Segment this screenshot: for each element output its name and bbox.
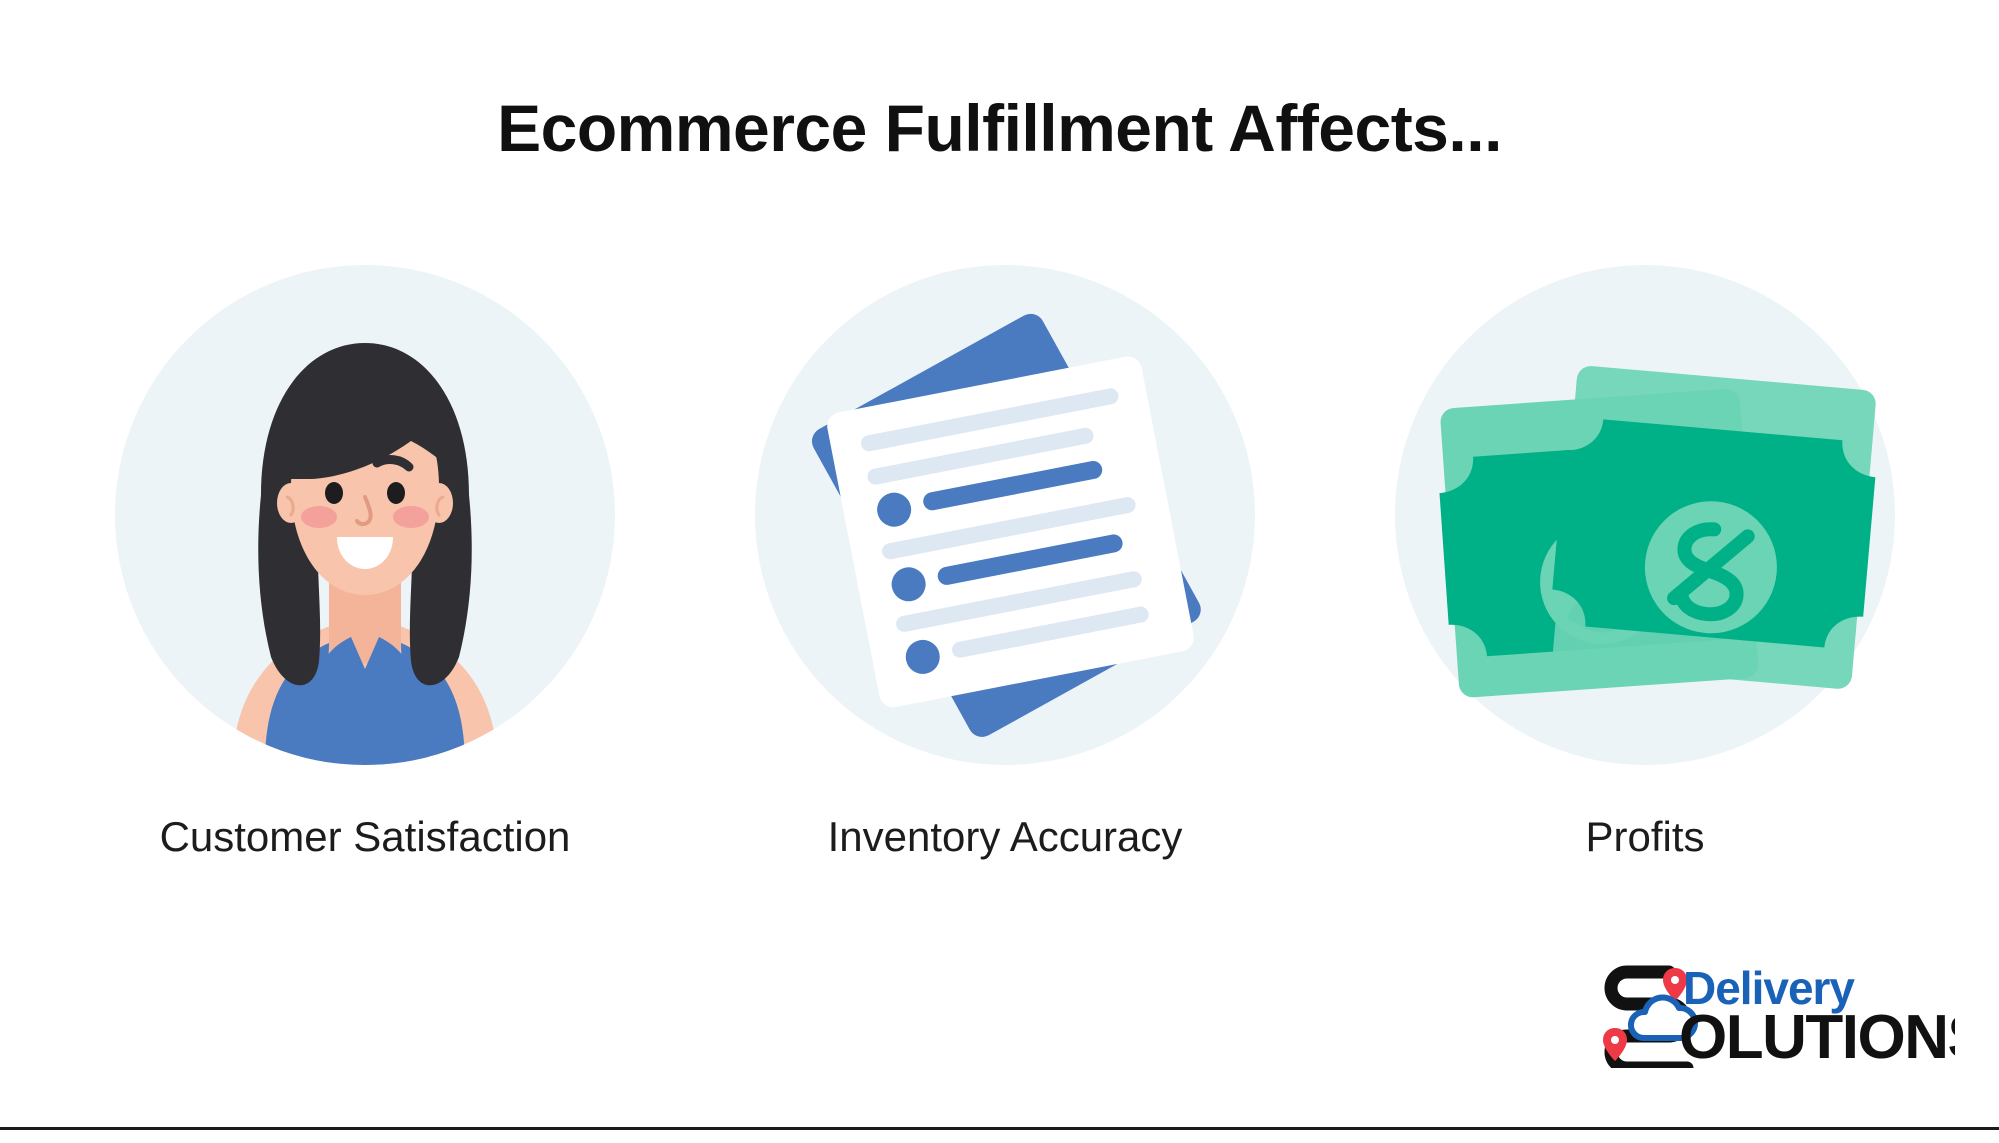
caption-inventory-accuracy: Inventory Accuracy xyxy=(828,813,1183,861)
slide-canvas: Ecommerce Fulfillment Affects... xyxy=(0,0,1999,1143)
column-profits: Profits xyxy=(1390,265,1900,861)
illustration-money xyxy=(1395,265,1895,765)
page-title: Ecommerce Fulfillment Affects... xyxy=(0,92,1999,165)
illustration-smiling-woman xyxy=(115,265,615,765)
column-inventory-accuracy: Inventory Accuracy xyxy=(750,265,1260,861)
column-customer-satisfaction: Customer Satisfaction xyxy=(110,265,620,861)
bottom-divider xyxy=(0,1127,1999,1130)
logo-word-solutions: OLUTIONS xyxy=(1679,1003,1955,1068)
caption-customer-satisfaction: Customer Satisfaction xyxy=(160,813,571,861)
delivery-solutions-logo[interactable]: Delivery OLUTIONS xyxy=(1565,956,1955,1068)
columns-row: Customer Satisfaction xyxy=(110,265,1900,861)
illustration-documents xyxy=(755,265,1255,765)
caption-profits: Profits xyxy=(1585,813,1704,861)
